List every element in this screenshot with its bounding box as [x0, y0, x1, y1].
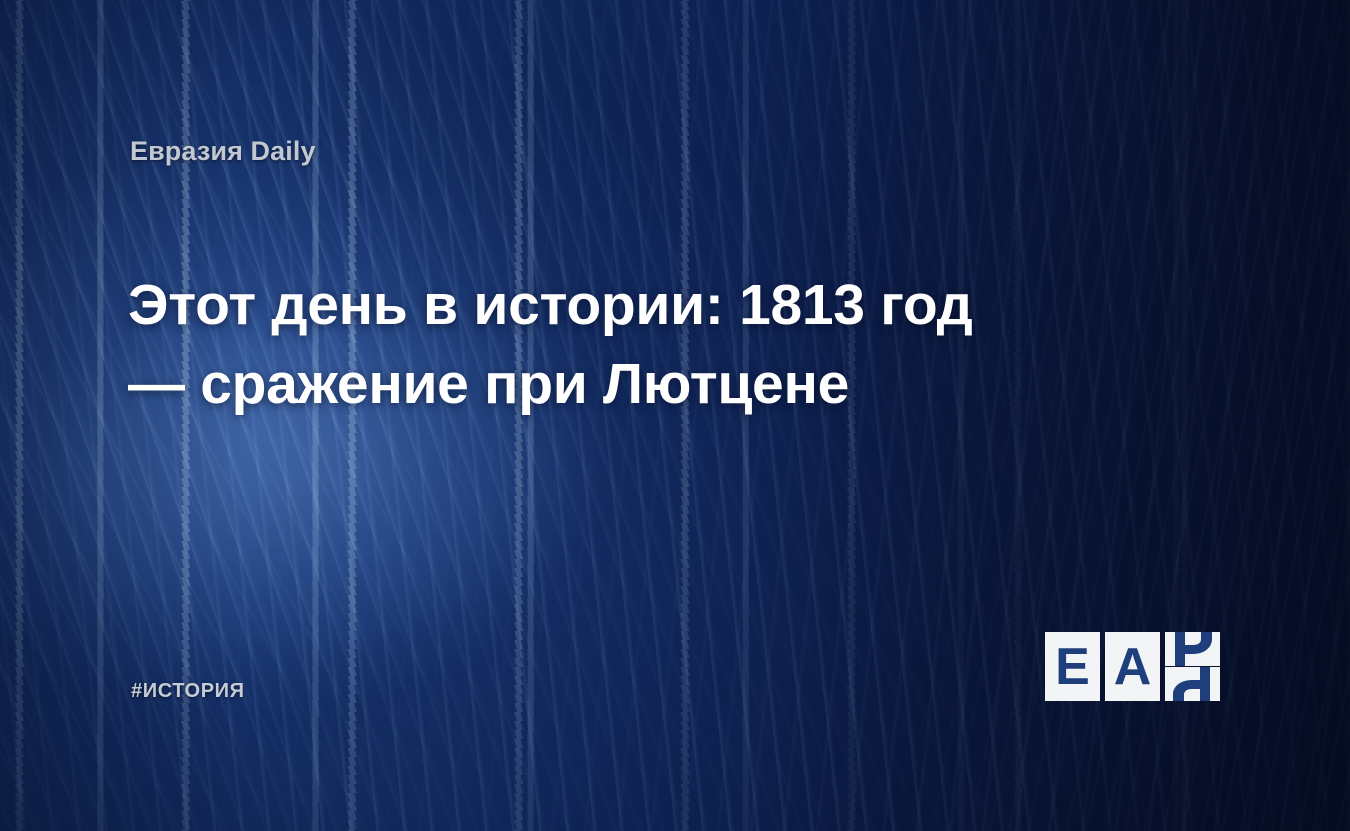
logo-tile-a: A: [1105, 632, 1160, 701]
article-hero-card: Евразия Daily Этот день в истории: 1813 …: [0, 0, 1350, 831]
logo-d-lower-glyph: [1165, 667, 1220, 701]
logo-letter-a: A: [1114, 641, 1152, 693]
logo-d-upper-glyph: [1165, 632, 1220, 666]
eadaily-logo[interactable]: E A: [1045, 632, 1220, 701]
logo-d-lower-half: [1165, 667, 1220, 701]
logo-letter-e: E: [1055, 641, 1090, 693]
page-title: Этот день в истории: 1813 год — сражение…: [128, 266, 1028, 423]
card-content: Евразия Daily Этот день в истории: 1813 …: [0, 0, 1350, 831]
logo-d-upper-half: [1165, 632, 1220, 666]
site-name: Евразия Daily: [130, 136, 316, 167]
logo-tile-e: E: [1045, 632, 1100, 701]
logo-tile-d-split: [1165, 632, 1220, 701]
category-tag[interactable]: #ИСТОРИЯ: [131, 680, 245, 703]
